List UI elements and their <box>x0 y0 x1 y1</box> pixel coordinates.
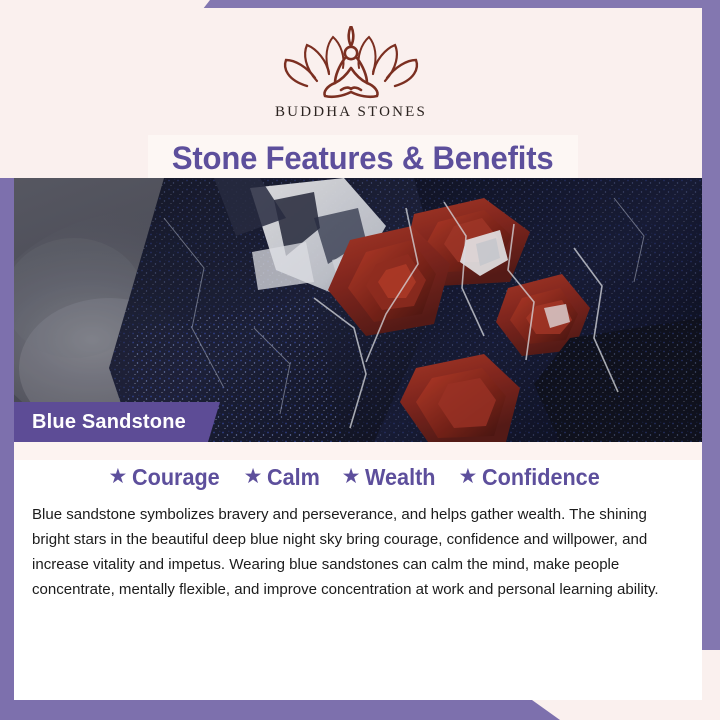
star-icon: ★ <box>108 466 127 487</box>
page-title-banner: Stone Features & Benefits <box>148 135 578 182</box>
star-icon: ★ <box>458 466 477 487</box>
benefit-item-calm: ★ Calm <box>244 464 324 491</box>
decorative-right-bar <box>702 28 720 650</box>
content-card: ★ Courage ★ Calm ★ Wealth ★ Confidence B… <box>14 442 702 700</box>
star-icon: ★ <box>244 466 263 487</box>
description-text: Blue sandstone symbolizes bravery and pe… <box>32 502 685 602</box>
star-icon: ★ <box>342 466 361 487</box>
benefit-item-confidence: ★ Confidence <box>458 464 607 491</box>
lotus-meditation-icon <box>277 26 425 100</box>
page-title: Stone Features & Benefits <box>172 140 554 177</box>
header: BUDDHA STONES Stone Features & Benefits <box>0 8 702 178</box>
benefits-row: ★ Courage ★ Calm ★ Wealth ★ Confidence <box>14 464 702 491</box>
benefit-item-courage: ★ Courage <box>108 464 225 491</box>
infographic-page: BUDDHA STONES Stone Features & Benefits <box>0 0 720 720</box>
benefit-label: Confidence <box>482 464 600 491</box>
decorative-left-bar <box>0 178 14 700</box>
stone-name-badge: Blue Sandstone <box>14 402 220 442</box>
benefit-label: Calm <box>267 464 320 491</box>
benefit-label: Wealth <box>365 464 435 491</box>
benefit-item-wealth: ★ Wealth <box>342 464 441 491</box>
brand-name: BUDDHA STONES <box>275 104 427 121</box>
content-top-tint <box>14 442 702 460</box>
brand-logo: BUDDHA STONES <box>0 26 702 121</box>
decorative-bottom-bar <box>0 700 560 720</box>
stone-name: Blue Sandstone <box>14 411 186 434</box>
benefit-label: Courage <box>132 464 220 491</box>
